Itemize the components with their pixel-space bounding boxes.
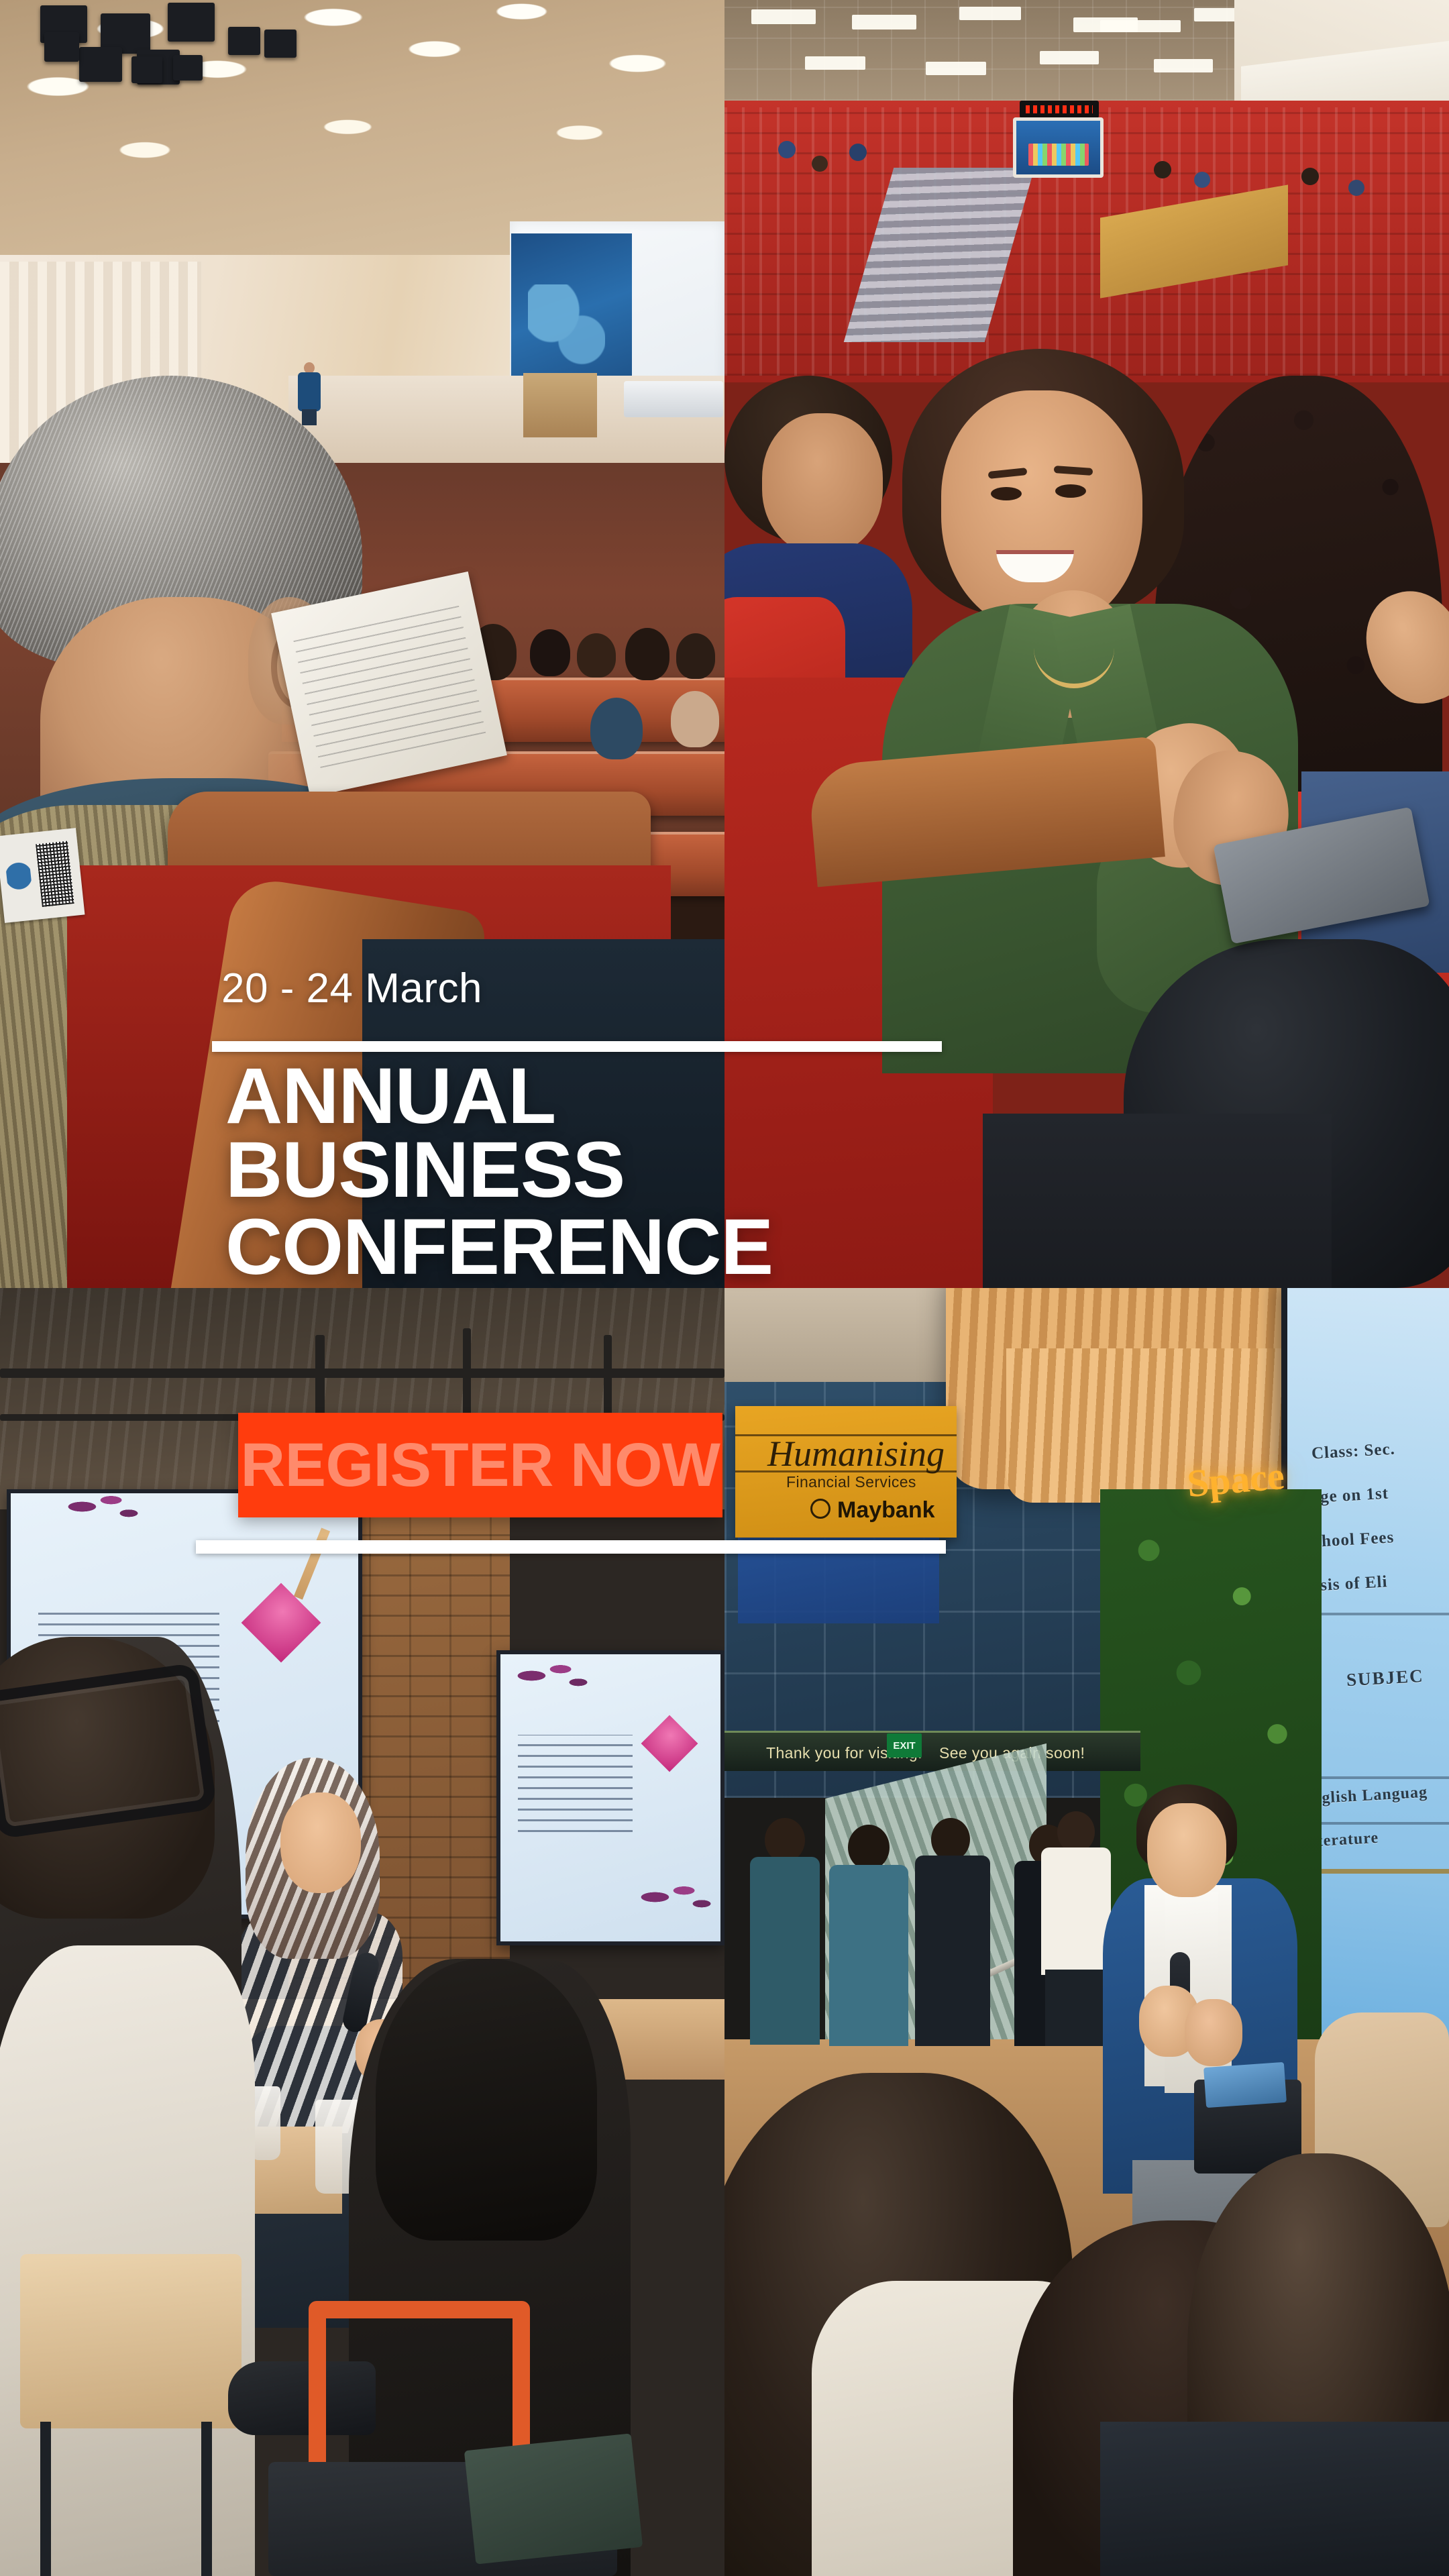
screen-line-class: Class: Sec. <box>1311 1440 1395 1464</box>
display-screen <box>1013 117 1104 178</box>
speaker-face <box>1147 1803 1226 1897</box>
signage-bar: Thank you for visiting. See you again so… <box>724 1731 1140 1771</box>
neon-sign: Space <box>1185 1450 1317 1515</box>
projection-screen-right <box>496 1650 724 1945</box>
digital-timer <box>1020 101 1099 118</box>
eyeglasses <box>0 1662 217 1839</box>
wooden-chair <box>20 2254 241 2428</box>
standing-attendee <box>745 1818 825 2046</box>
promo-poster: Class: Sec. Age on 1st School Fees Basis… <box>0 0 1449 2576</box>
standing-attendee <box>825 1825 912 2046</box>
exit-sign: EXIT <box>887 1733 922 1758</box>
tablet-device <box>1203 2062 1287 2108</box>
woman-face <box>941 390 1142 632</box>
maybank-logo-icon <box>810 1499 830 1519</box>
photo-top-left <box>0 0 724 1288</box>
maybank-brand: Maybank <box>837 1497 935 1523</box>
maybank-tagline-sub: Financial Services <box>786 1473 916 1491</box>
presenter-face <box>280 1792 361 1893</box>
photo-collage-grid: Class: Sec. Age on 1st School Fees Basis… <box>0 0 1449 2576</box>
screen-line-subject: SUBJEC <box>1346 1666 1424 1690</box>
register-now-label: REGISTER NOW <box>241 1434 720 1496</box>
podium <box>523 373 597 437</box>
register-now-button[interactable]: REGISTER NOW <box>238 1413 722 1517</box>
seat-qr-label <box>0 828 85 923</box>
photo-top-right <box>724 0 1449 1288</box>
maybank-tagline-script: Humanising <box>767 1436 945 1472</box>
av-equipment <box>624 381 723 417</box>
maybank-signage: Humanising Financial Services Maybank <box>735 1406 957 1538</box>
green-notebook <box>464 2433 643 2564</box>
standing-attendee <box>912 1818 993 2046</box>
